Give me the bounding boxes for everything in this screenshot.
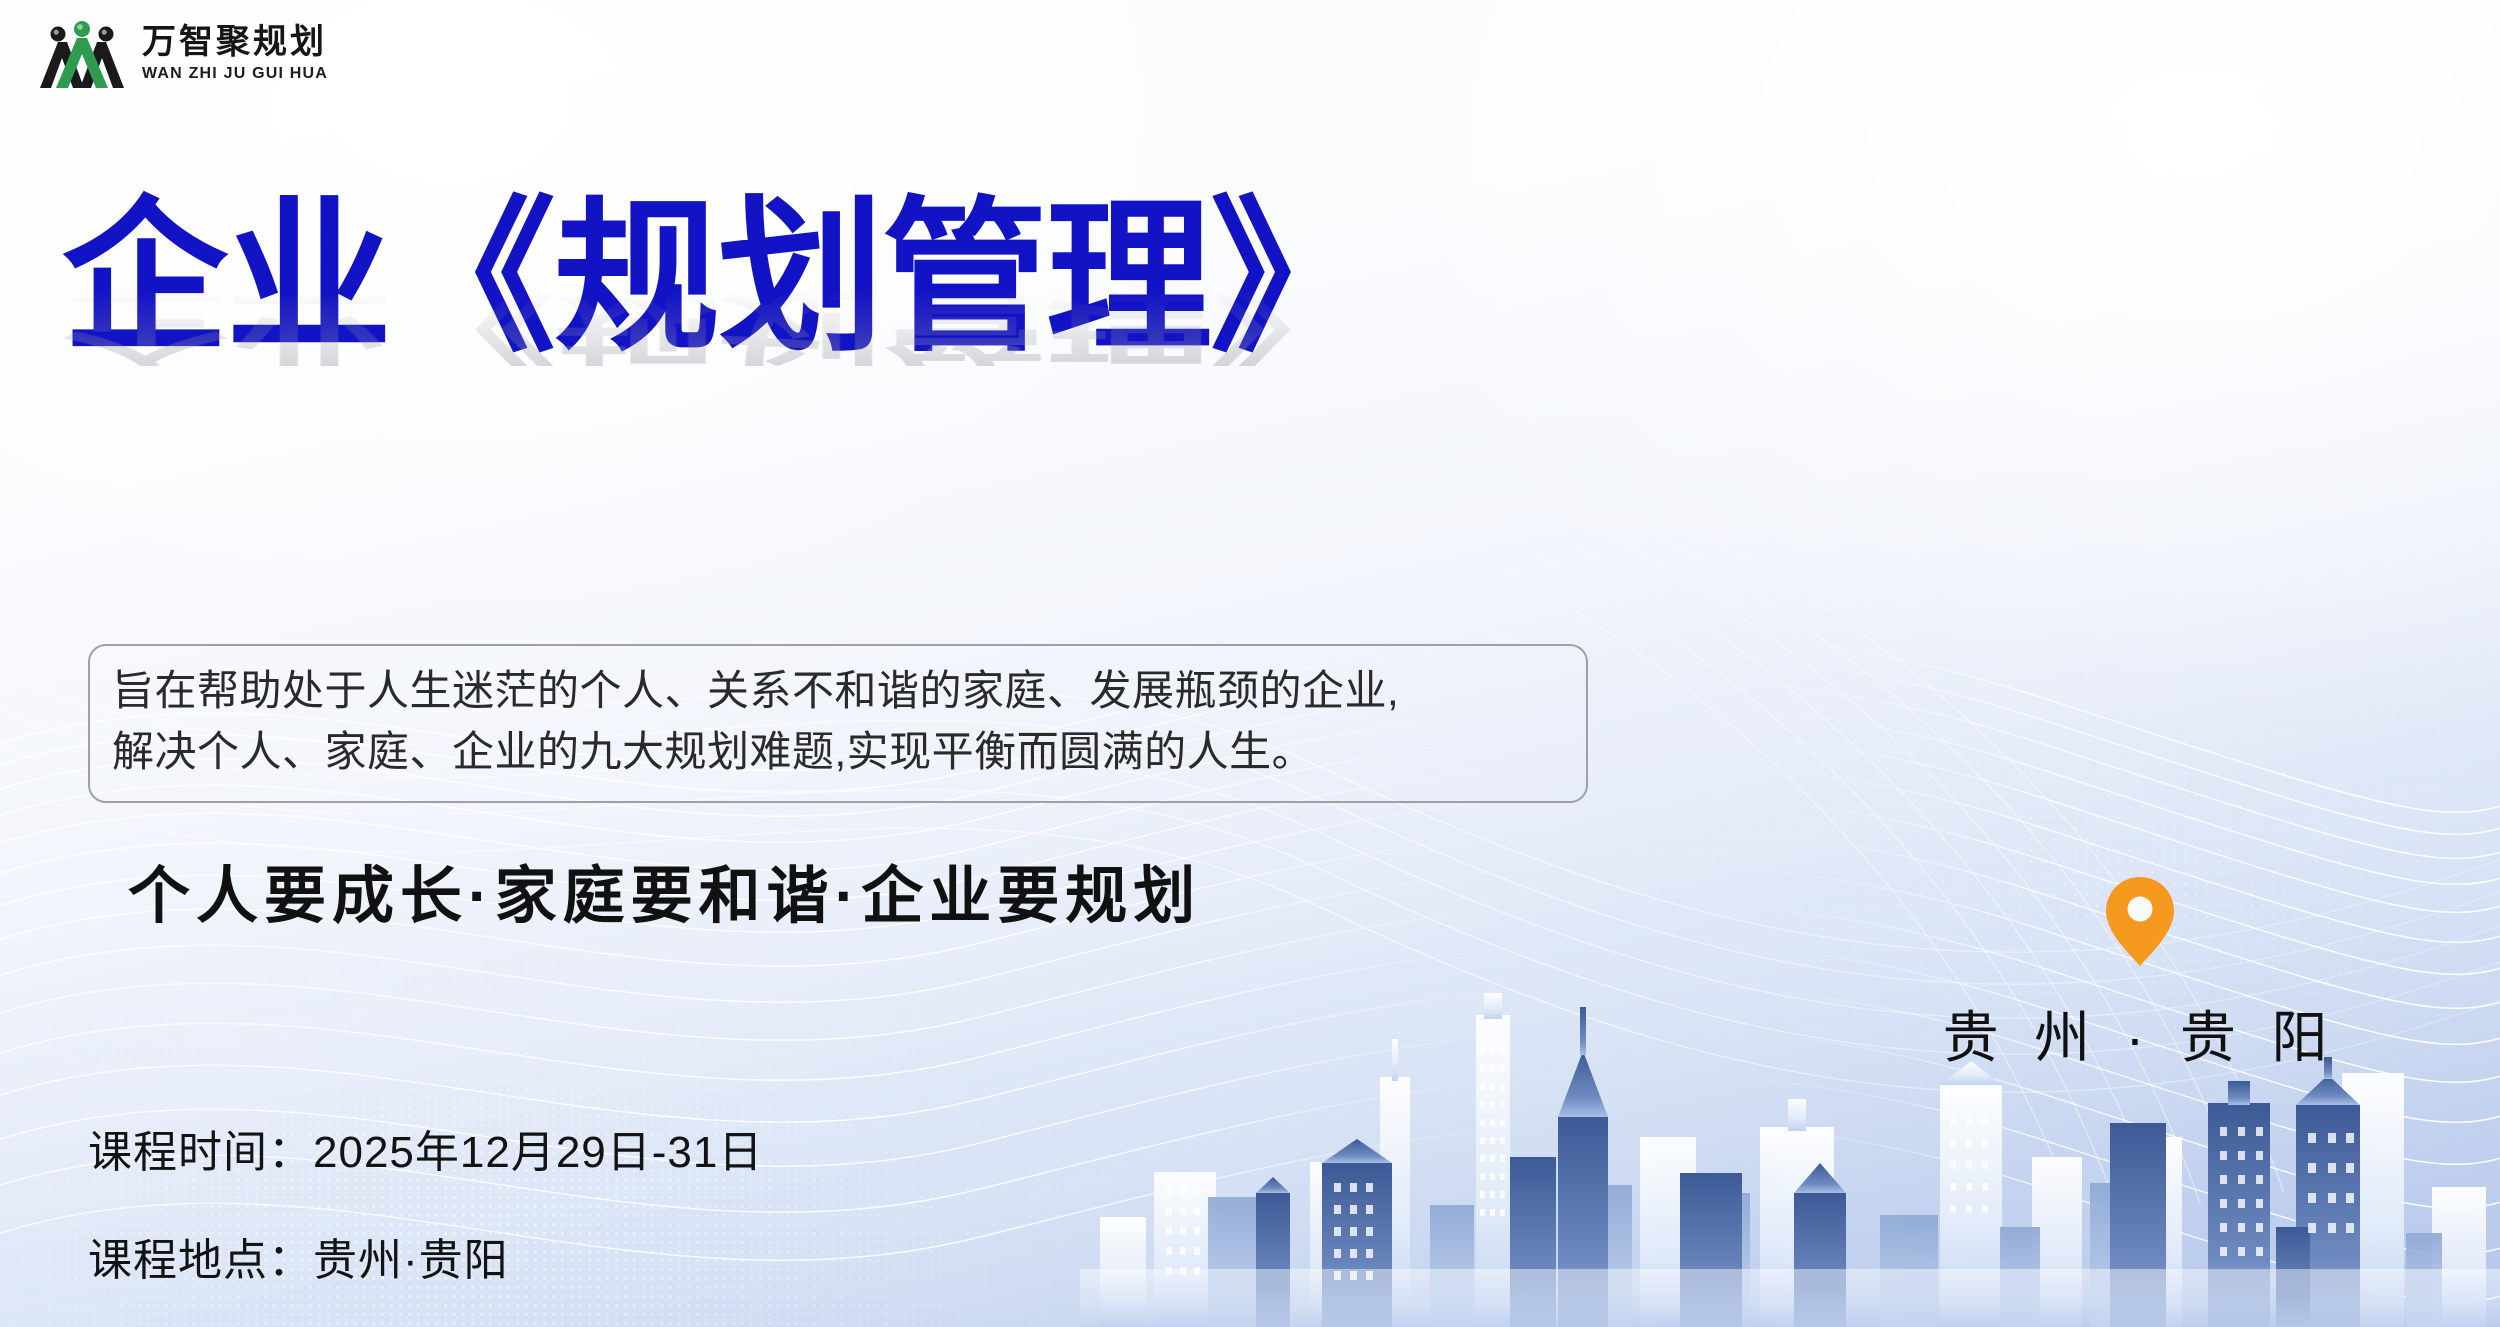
three-people-logo-icon xyxy=(36,18,128,90)
poster-canvas: 万智聚规划 WAN ZHI JU GUI HUA 企业《规划管理》 企业《规划管… xyxy=(0,0,2500,1327)
description-line-2: 解决个人、家庭、企业的九大规划难题,实现平衡而圆满的人生。 xyxy=(112,721,1564,782)
page-title-reflection: 企业《规划管理》 xyxy=(62,286,1562,366)
slogan-text: 个人要成长·家庭要和谐·企业要规划 xyxy=(128,845,1201,935)
location-block: 贵 州 · 贵 阳 xyxy=(1950,875,2330,1074)
course-time: 课程时间：2025年12月29日-31日 xyxy=(88,1116,763,1180)
course-place: 课程地点：贵州·贵阳 xyxy=(88,1224,763,1288)
description-box: 旨在帮助处于人生迷茫的个人、关系不和谐的家庭、发展瓶颈的企业, 解决个人、家庭、… xyxy=(88,644,1588,803)
brand-text: 万智聚规划 WAN ZHI JU GUI HUA xyxy=(142,26,328,82)
schedule-block: 课程时间：2025年12月29日-31日 课程地点：贵州·贵阳 xyxy=(88,1116,763,1288)
brand-name-cn: 万智聚规划 xyxy=(142,26,328,60)
brand-name-en: WAN ZHI JU GUI HUA xyxy=(142,66,328,82)
map-pin-icon xyxy=(2103,875,2177,967)
location-label: 贵 州 · 贵 阳 xyxy=(1943,993,2338,1074)
description-line-1: 旨在帮助处于人生迷茫的个人、关系不和谐的家庭、发展瓶颈的企业, xyxy=(112,660,1564,721)
brand-logo[interactable]: 万智聚规划 WAN ZHI JU GUI HUA xyxy=(36,18,328,90)
headline-block: 企业《规划管理》 企业《规划管理》 xyxy=(62,196,1562,532)
